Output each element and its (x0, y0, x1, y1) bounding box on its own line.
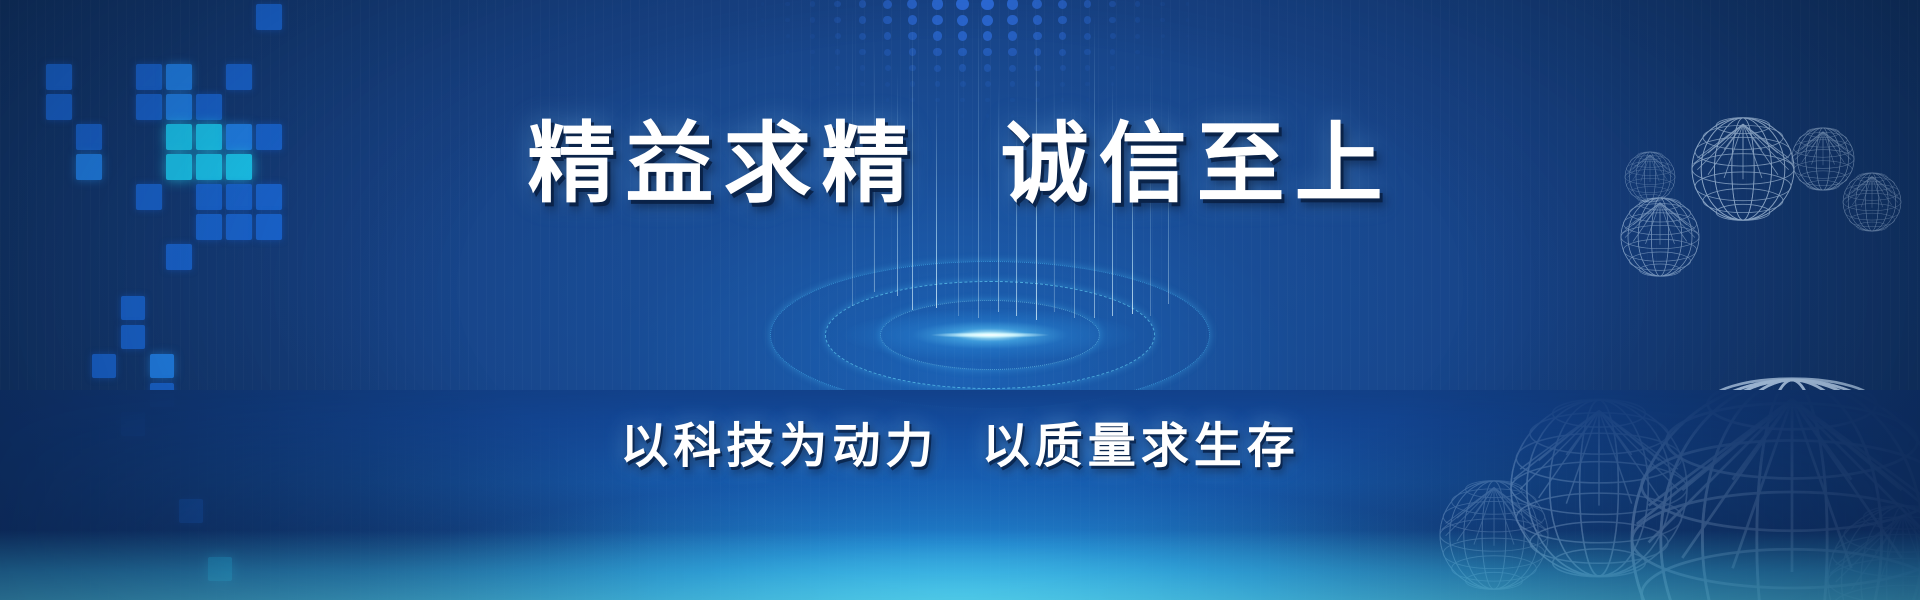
floor-highlight-band (0, 530, 1920, 600)
radar-core-highlight (930, 332, 1050, 338)
hero-banner: 精益求精 诚信至上 以科技为动力 以质量求生存 (0, 0, 1920, 600)
page-title: 精益求精 诚信至上 (0, 112, 1920, 216)
radar-ring-outer (770, 261, 1210, 409)
radar-ring-middle (825, 281, 1155, 389)
radar-core-glow (840, 308, 1140, 362)
page-subtitle: 以科技为动力 以质量求生存 (0, 418, 1920, 476)
radar-ring-inner (880, 300, 1100, 370)
